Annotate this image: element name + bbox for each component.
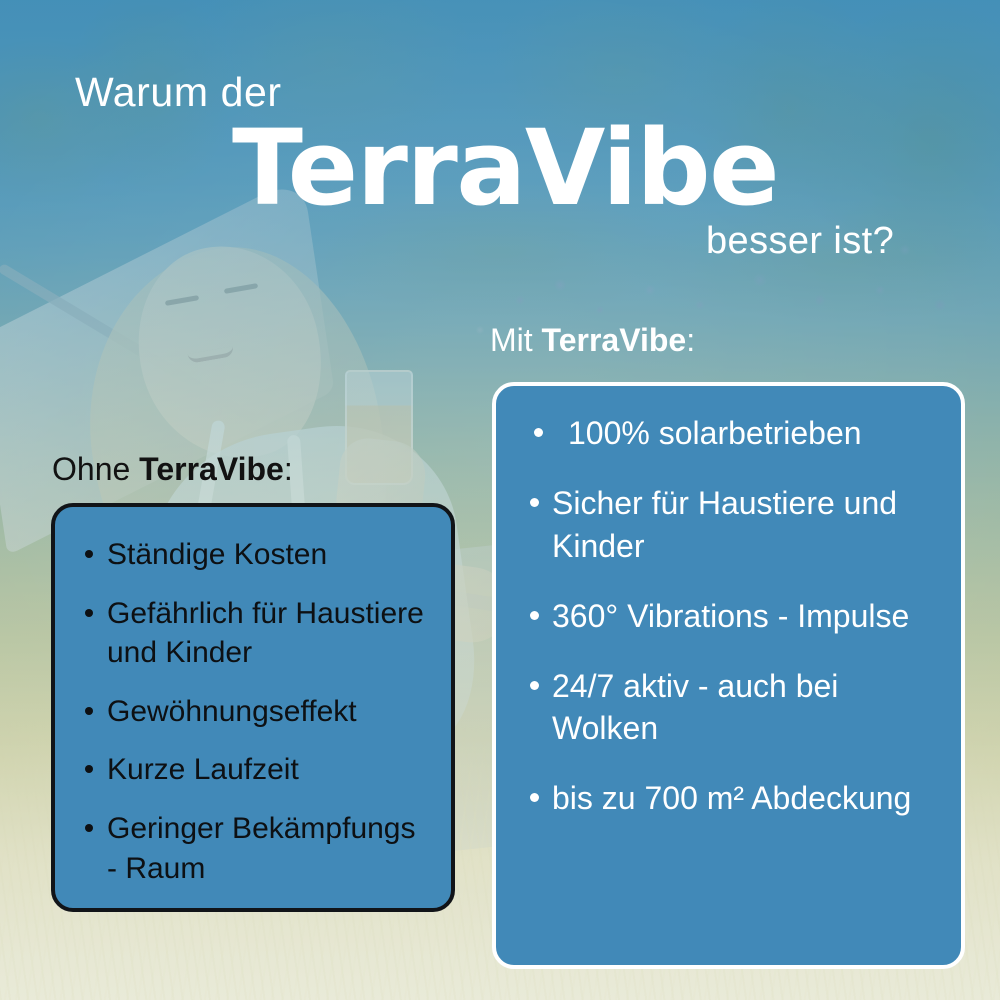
left-column-label: Ohne TerraVibe: <box>52 453 293 485</box>
brand-wordmark: TerraVibe <box>232 116 778 220</box>
promo-poster: Warum der TerraVibe besser ist? Ohne Ter… <box>0 0 1000 1000</box>
cons-list: Ständige Kosten Gefährlich für Haustiere… <box>79 535 431 888</box>
pros-list: 100% solarbetrieben Sicher für Haustiere… <box>524 412 939 820</box>
right-label-prefix: Mit <box>490 322 542 358</box>
left-label-brand: TerraVibe <box>139 451 284 487</box>
right-column-label: Mit TerraVibe: <box>490 324 695 356</box>
left-label-prefix: Ohne <box>52 451 139 487</box>
list-item: Sicher für Haustiere und Kinder <box>524 482 939 568</box>
list-item: 24/7 aktiv - auch bei Wolken <box>524 665 939 751</box>
cons-card: Ständige Kosten Gefährlich für Haustiere… <box>51 503 455 912</box>
list-item: 360° Vibrations - Impulse <box>524 595 939 638</box>
list-item: 100% solarbetrieben <box>524 412 939 455</box>
list-item: bis zu 700 m² Abdeckung <box>524 777 939 820</box>
pros-card: 100% solarbetrieben Sicher für Haustiere… <box>492 382 965 969</box>
headline-tagline: besser ist? <box>706 222 894 260</box>
list-item: Ständige Kosten <box>79 535 431 575</box>
list-item: Geringer Bekämpfungs - Raum <box>79 809 431 888</box>
poster-content: Warum der TerraVibe besser ist? Ohne Ter… <box>0 0 1000 1000</box>
list-item: Gefährlich für Haustiere und Kinder <box>79 594 431 673</box>
right-label-suffix: : <box>686 322 695 358</box>
left-label-suffix: : <box>284 451 293 487</box>
list-item: Gewöhnungseffekt <box>79 692 431 732</box>
right-label-brand: TerraVibe <box>542 322 687 358</box>
list-item: Kurze Laufzeit <box>79 750 431 790</box>
